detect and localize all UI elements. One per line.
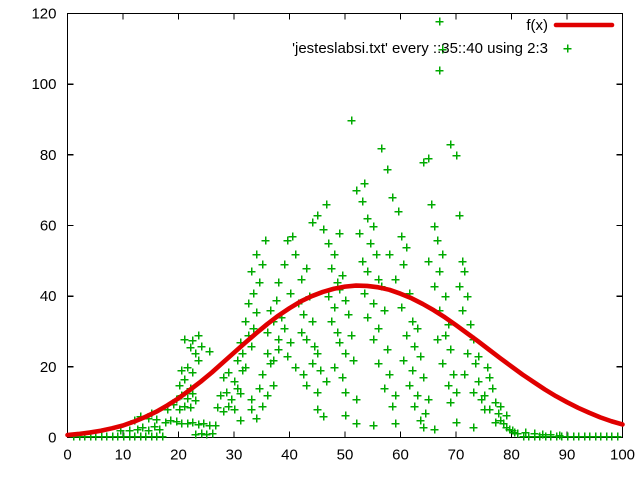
data-point	[394, 207, 402, 215]
data-point	[199, 419, 207, 427]
data-point	[433, 335, 441, 343]
data-point	[488, 384, 496, 392]
data-point	[391, 419, 399, 427]
data-point	[283, 236, 291, 244]
chart-legend: f(x)'jesteslabsi.txt' every ::35::40 usi…	[292, 17, 612, 57]
data-point	[458, 257, 466, 265]
x-tick-label-50: 50	[337, 447, 354, 464]
data-point	[324, 239, 332, 247]
data-point	[249, 289, 257, 297]
data-point	[341, 349, 349, 357]
data-point	[438, 250, 446, 258]
data-point	[269, 381, 277, 389]
data-point	[397, 303, 405, 311]
data-point	[263, 328, 271, 336]
data-point	[402, 331, 410, 339]
data-point	[252, 414, 260, 422]
data-point	[255, 278, 263, 286]
data-point	[241, 317, 249, 325]
data-point	[380, 384, 388, 392]
data-point	[377, 144, 385, 152]
data-point	[435, 66, 443, 74]
plot-frame	[68, 14, 623, 438]
data-point	[313, 211, 321, 219]
data-point	[322, 377, 330, 385]
data-point	[374, 324, 382, 332]
data-point	[372, 250, 380, 258]
gnuplot-chart: 0102030405060708090100 020406080100120 f…	[0, 0, 640, 480]
data-point	[327, 264, 335, 272]
data-point	[344, 310, 352, 318]
data-point	[380, 306, 388, 314]
data-point	[491, 418, 499, 426]
data-point	[188, 418, 196, 426]
data-point	[258, 402, 266, 410]
data-point	[330, 303, 338, 311]
data-point	[263, 349, 271, 357]
data-point	[435, 17, 443, 25]
data-point	[485, 405, 493, 413]
data-point	[219, 407, 227, 415]
data-point	[355, 229, 363, 237]
data-point	[166, 416, 174, 424]
data-point	[335, 229, 343, 237]
data-point	[211, 421, 219, 429]
data-point	[430, 222, 438, 230]
data-point	[233, 356, 241, 364]
data-point	[263, 391, 271, 399]
data-point	[347, 116, 355, 124]
data-point	[441, 292, 449, 300]
data-point	[455, 282, 463, 290]
data-point	[186, 343, 194, 351]
data-point	[172, 417, 180, 425]
data-point	[388, 193, 396, 201]
data-point	[433, 236, 441, 244]
data-point	[402, 243, 410, 251]
data-point	[369, 421, 377, 429]
data-point	[302, 264, 310, 272]
data-point	[324, 292, 332, 300]
data-point	[297, 275, 305, 283]
data-point	[308, 359, 316, 367]
data-point	[252, 308, 260, 316]
data-point	[363, 267, 371, 275]
data-point	[438, 359, 446, 367]
data-point	[383, 165, 391, 173]
plot-border	[68, 14, 623, 438]
data-point	[366, 239, 374, 247]
data-point	[463, 349, 471, 357]
y-tick-label-0: 0	[48, 430, 56, 447]
data-point	[313, 388, 321, 396]
data-point	[363, 313, 371, 321]
data-point	[388, 402, 396, 410]
data-point	[280, 324, 288, 332]
data-point	[280, 260, 288, 268]
legend-label-fx: f(x)	[526, 17, 548, 34]
data-point	[302, 335, 310, 343]
y-tick-label-20: 20	[40, 359, 57, 376]
data-point	[180, 375, 188, 383]
data-point	[341, 411, 349, 419]
data-point	[469, 388, 477, 396]
data-point	[385, 370, 393, 378]
data-point	[421, 409, 429, 417]
data-point	[183, 419, 191, 427]
data-point	[186, 403, 194, 411]
y-tick-label-40: 40	[40, 288, 57, 305]
data-point	[125, 426, 133, 434]
data-point	[408, 366, 416, 374]
data-point	[483, 363, 491, 371]
data-point	[466, 320, 474, 328]
data-point	[272, 296, 280, 304]
data-point	[197, 342, 205, 350]
data-point	[291, 363, 299, 371]
data-point	[363, 214, 371, 222]
data-point	[341, 388, 349, 396]
data-point	[360, 179, 368, 187]
data-point	[313, 405, 321, 413]
data-point	[397, 232, 405, 240]
data-point	[261, 236, 269, 244]
data-point	[247, 395, 255, 403]
data-point	[180, 335, 188, 343]
data-point	[188, 336, 196, 344]
data-point	[419, 158, 427, 166]
data-point	[352, 186, 360, 194]
data-point	[441, 331, 449, 339]
data-point	[485, 373, 493, 381]
data-point	[194, 420, 202, 428]
data-point	[399, 356, 407, 364]
data-point	[385, 250, 393, 258]
data-point	[244, 299, 252, 307]
data-point	[188, 368, 196, 376]
data-point	[613, 432, 621, 440]
data-point	[413, 324, 421, 332]
data-point	[419, 373, 427, 381]
scatter-series-points	[69, 17, 621, 440]
x-tick-label-70: 70	[448, 447, 465, 464]
data-point	[319, 412, 327, 420]
data-point	[283, 352, 291, 360]
data-point	[449, 370, 457, 378]
data-point	[308, 218, 316, 226]
data-point	[319, 225, 327, 233]
x-tick-label-90: 90	[559, 447, 576, 464]
data-point	[219, 373, 227, 381]
data-point	[266, 306, 274, 314]
data-point	[410, 402, 418, 410]
data-point	[208, 429, 216, 437]
data-point	[360, 289, 368, 297]
data-point	[424, 257, 432, 265]
data-point	[224, 368, 232, 376]
x-tick-label-30: 30	[226, 447, 243, 464]
data-point	[455, 211, 463, 219]
data-point	[391, 391, 399, 399]
data-point	[383, 345, 391, 353]
x-tick-label-10: 10	[115, 447, 132, 464]
data-point	[427, 200, 435, 208]
data-point	[274, 335, 282, 343]
data-point	[430, 282, 438, 290]
data-point	[452, 388, 460, 396]
data-point	[444, 381, 452, 389]
data-point	[347, 331, 355, 339]
data-point	[316, 366, 324, 374]
data-point	[410, 342, 418, 350]
data-point	[349, 356, 357, 364]
data-point	[341, 296, 349, 304]
x-tick-label-20: 20	[170, 447, 187, 464]
data-point	[327, 317, 335, 325]
data-point	[308, 317, 316, 325]
data-point	[408, 317, 416, 325]
data-point	[446, 398, 454, 406]
data-point	[430, 425, 438, 433]
data-point	[252, 250, 260, 258]
data-point	[236, 416, 244, 424]
data-point	[255, 384, 263, 392]
data-point	[369, 299, 377, 307]
data-point	[175, 381, 183, 389]
x-tick-label-80: 80	[503, 447, 520, 464]
data-point	[463, 292, 471, 300]
data-point	[352, 395, 360, 403]
data-point	[286, 338, 294, 346]
data-point	[247, 342, 255, 350]
data-point	[416, 352, 424, 360]
legend-label-datafile: 'jesteslabsi.txt' every ::35::40 using 2…	[292, 40, 548, 57]
data-point	[213, 403, 221, 411]
data-point	[302, 381, 310, 389]
y-tick-label-100: 100	[31, 76, 56, 93]
data-point	[352, 419, 360, 427]
y-tick-label-120: 120	[31, 6, 56, 23]
data-point	[322, 200, 330, 208]
data-point	[286, 289, 294, 297]
data-point	[405, 381, 413, 389]
x-tick-label-100: 100	[610, 447, 635, 464]
data-point	[460, 267, 468, 275]
data-point	[161, 418, 169, 426]
y-axis-tick-labels: 020406080100120	[31, 6, 56, 447]
data-point	[424, 154, 432, 162]
data-point	[391, 275, 399, 283]
data-point	[297, 328, 305, 336]
data-point	[330, 250, 338, 258]
data-point	[288, 232, 296, 240]
data-point	[446, 140, 454, 148]
data-point	[330, 363, 338, 371]
y-tick-label-80: 80	[40, 147, 57, 164]
data-point	[299, 370, 307, 378]
data-point	[374, 359, 382, 367]
data-point	[274, 345, 282, 353]
data-point	[205, 347, 213, 355]
data-point	[369, 222, 377, 230]
data-point	[435, 267, 443, 275]
data-point	[333, 328, 341, 336]
data-point	[446, 345, 454, 353]
data-point	[247, 405, 255, 413]
data-point	[491, 398, 499, 406]
data-point	[299, 310, 307, 318]
data-point	[496, 402, 504, 410]
data-point	[474, 377, 482, 385]
data-point	[197, 429, 205, 437]
data-point	[460, 370, 468, 378]
data-point	[152, 415, 160, 423]
data-point	[369, 335, 377, 343]
data-point	[413, 391, 421, 399]
data-point	[291, 250, 299, 258]
data-point	[424, 395, 432, 403]
x-tick-label-60: 60	[392, 447, 409, 464]
data-point	[274, 278, 282, 286]
data-point	[335, 338, 343, 346]
data-point	[358, 197, 366, 205]
x-tick-label-0: 0	[63, 447, 71, 464]
axis-ticks	[68, 14, 623, 438]
data-point	[338, 271, 346, 279]
data-point	[469, 423, 477, 431]
data-point	[494, 409, 502, 417]
data-point	[458, 306, 466, 314]
x-axis-tick-labels: 0102030405060708090100	[63, 447, 635, 464]
data-point	[247, 267, 255, 275]
data-point	[502, 411, 510, 419]
data-point	[399, 260, 407, 268]
data-point	[338, 373, 346, 381]
data-point	[452, 151, 460, 159]
data-point	[452, 418, 460, 426]
data-point	[358, 257, 366, 265]
data-point	[258, 370, 266, 378]
data-point	[258, 260, 266, 268]
data-point	[194, 331, 202, 339]
chart-canvas: 0102030405060708090100 020406080100120 f…	[0, 0, 640, 480]
x-tick-label-40: 40	[281, 447, 298, 464]
y-tick-label-60: 60	[40, 218, 57, 235]
